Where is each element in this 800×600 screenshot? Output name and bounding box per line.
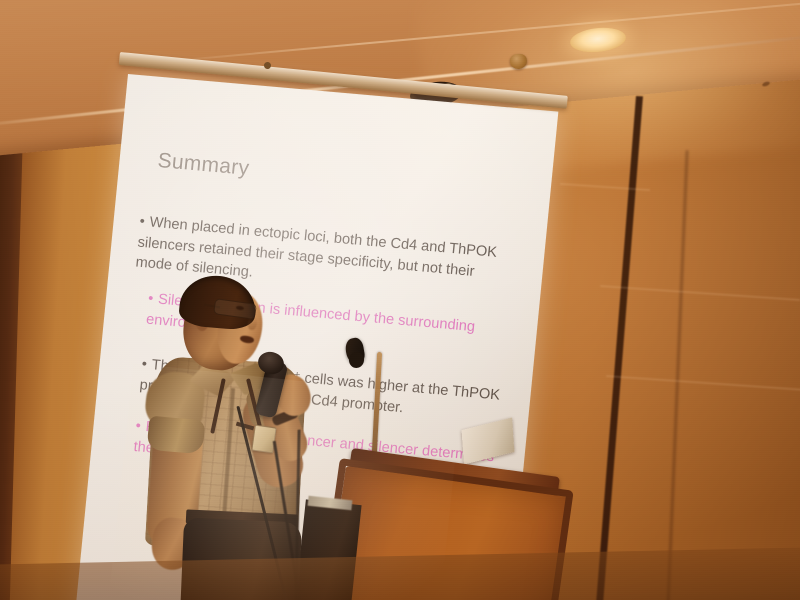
presentation-photo: Summary •When placed in ectopic loci, bo… <box>0 0 800 600</box>
speaker-sleeve-left <box>147 416 206 455</box>
speaker <box>0 0 800 600</box>
name-badge <box>251 425 276 454</box>
